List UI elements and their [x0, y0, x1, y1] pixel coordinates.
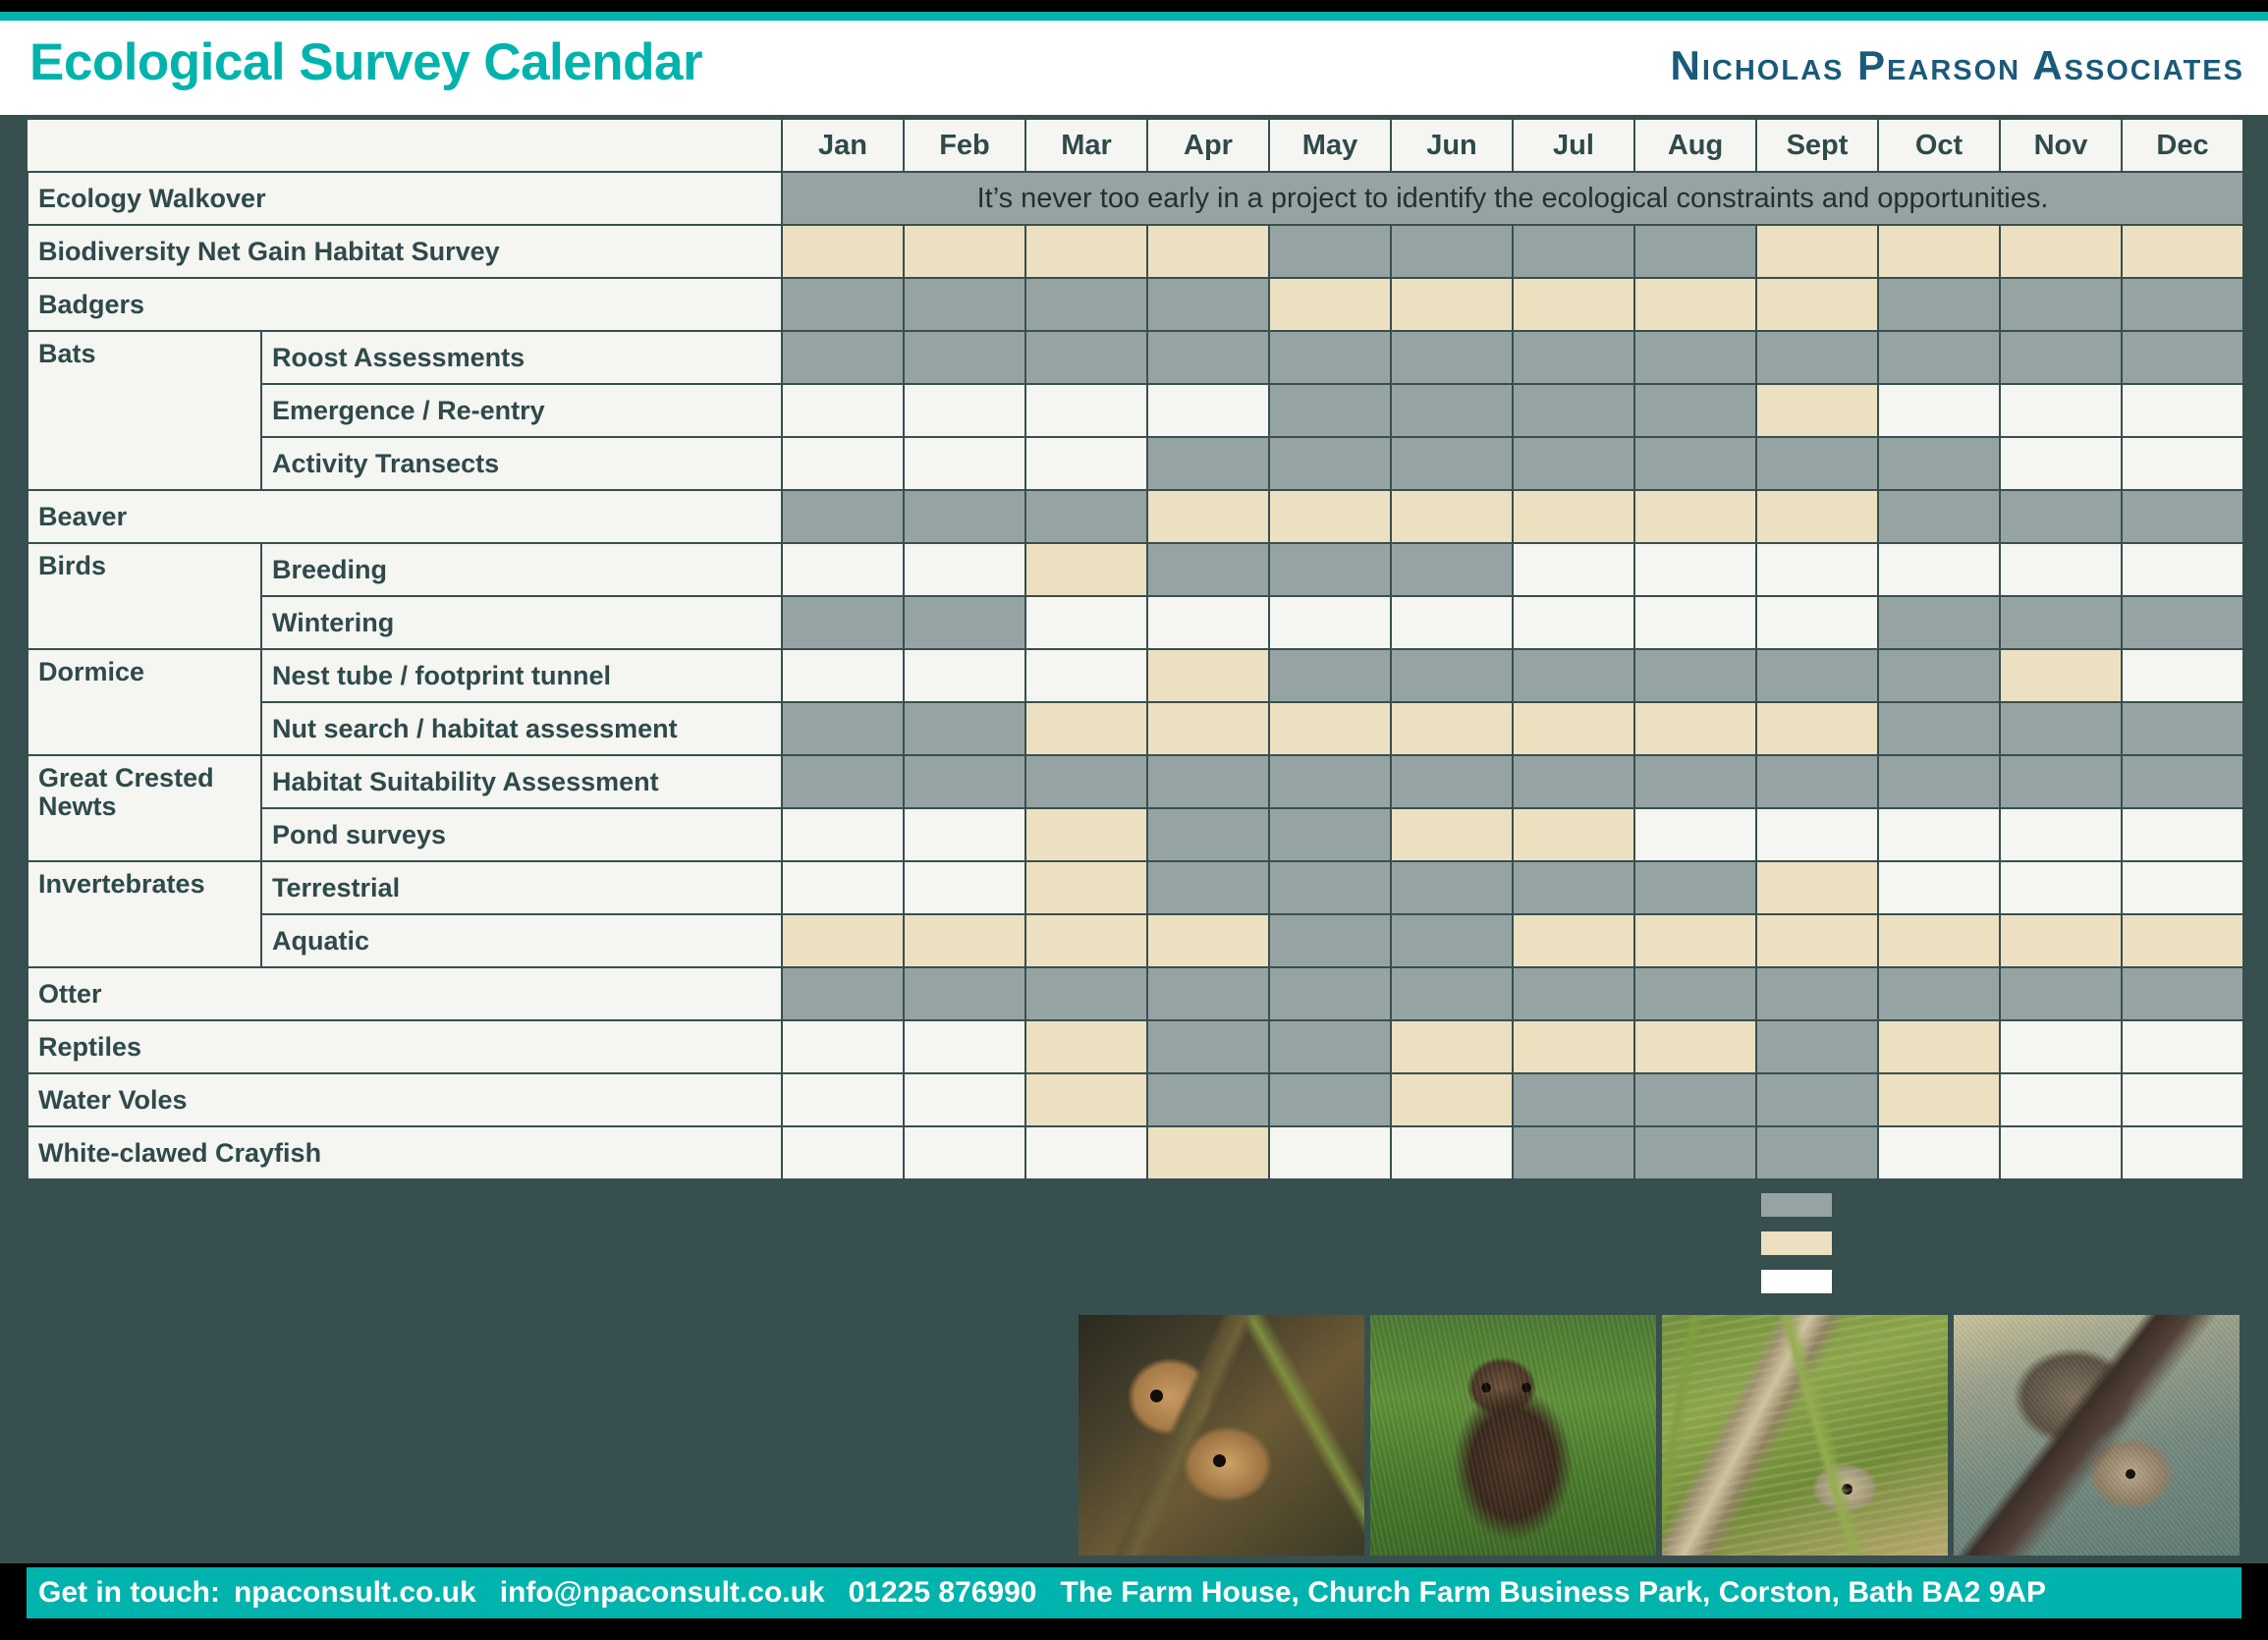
timeline-cell-may — [1269, 755, 1391, 808]
timeline-cell-oct — [1878, 278, 2000, 331]
timeline-cell-sept — [1756, 596, 1878, 649]
timeline-cell-dec — [2122, 543, 2243, 596]
timeline-cell-sept — [1756, 543, 1878, 596]
month-header-jun: Jun — [1391, 119, 1513, 172]
dormouse-eye-icon — [1150, 1390, 1163, 1402]
timeline-cell-aug — [1634, 702, 1756, 755]
timeline-cell-aug — [1634, 649, 1756, 702]
timeline-cell-nov — [2000, 967, 2122, 1020]
timeline-cell-aug — [1634, 596, 1756, 649]
otter-photo — [1370, 1315, 1656, 1556]
timeline-cell-aug — [1634, 543, 1756, 596]
timeline-cell-mar — [1025, 437, 1147, 490]
timeline-cell-jan — [782, 384, 904, 437]
table-row: Otter — [28, 967, 2243, 1020]
timeline-cell-nov — [2000, 596, 2122, 649]
row-sub-label: Emergence / Re-entry — [261, 384, 782, 437]
timeline-cell-dec — [2122, 755, 2243, 808]
timeline-cell-feb — [904, 1020, 1025, 1073]
timeline-cell-apr — [1147, 331, 1269, 384]
table-row: Emergence / Re-entry — [28, 384, 2243, 437]
timeline-cell-jul — [1513, 1073, 1634, 1126]
timeline-cell-dec — [2122, 1126, 2243, 1179]
timeline-cell-may — [1269, 1126, 1391, 1179]
row-group-label: Water Voles — [28, 1073, 782, 1126]
timeline-cell-may — [1269, 861, 1391, 914]
timeline-cell-jul — [1513, 278, 1634, 331]
timeline-cell-aug — [1634, 914, 1756, 967]
table-row: White-clawed Crayfish — [28, 1126, 2243, 1179]
timeline-cell-nov — [2000, 649, 2122, 702]
timeline-cell-oct — [1878, 331, 2000, 384]
timeline-cell-feb — [904, 437, 1025, 490]
timeline-cell-nov — [2000, 1126, 2122, 1179]
timeline-cell-aug — [1634, 861, 1756, 914]
timeline-cell-jul — [1513, 702, 1634, 755]
timeline-cell-dec — [2122, 225, 2243, 278]
timeline-cell-feb — [904, 596, 1025, 649]
timeline-cell-feb — [904, 755, 1025, 808]
table-row: BatsRoost Assessments — [28, 331, 2243, 384]
timeline-cell-oct — [1878, 384, 2000, 437]
timeline-cell-jul — [1513, 384, 1634, 437]
timeline-cell-nov — [2000, 1020, 2122, 1073]
timeline-cell-jan — [782, 1126, 904, 1179]
timeline-cell-jun — [1391, 1073, 1513, 1126]
table-row: Wintering — [28, 596, 2243, 649]
timeline-cell-nov — [2000, 543, 2122, 596]
timeline-cell-may — [1269, 1073, 1391, 1126]
timeline-cell-sept — [1756, 914, 1878, 967]
timeline-cell-aug — [1634, 225, 1756, 278]
timeline-cell-feb — [904, 1073, 1025, 1126]
page-title: Ecological Survey Calendar — [29, 32, 702, 92]
timeline-cell-mar — [1025, 914, 1147, 967]
timeline-cell-jun — [1391, 914, 1513, 967]
timeline-cell-jan — [782, 967, 904, 1020]
timeline-cell-jul — [1513, 1126, 1634, 1179]
timeline-cell-nov — [2000, 702, 2122, 755]
timeline-cell-oct — [1878, 967, 2000, 1020]
timeline-cell-apr — [1147, 225, 1269, 278]
timeline-cell-jul — [1513, 596, 1634, 649]
table-row: Beaver — [28, 490, 2243, 543]
timeline-cell-feb — [904, 278, 1025, 331]
timeline-cell-oct — [1878, 596, 2000, 649]
timeline-cell-apr — [1147, 649, 1269, 702]
month-header-dec: Dec — [2122, 119, 2243, 172]
row-sub-label: Wintering — [261, 596, 782, 649]
footer-email-link[interactable]: info@npaconsult.co.uk — [500, 1576, 825, 1610]
timeline-cell-dec — [2122, 649, 2243, 702]
photo-strip — [1079, 1315, 2240, 1556]
timeline-cell-apr — [1147, 914, 1269, 967]
footer-address: The Farm House, Church Farm Business Par… — [1061, 1576, 2047, 1610]
table-row: Aquatic — [28, 914, 2243, 967]
table-row: Badgers — [28, 278, 2243, 331]
timeline-cell-may — [1269, 596, 1391, 649]
timeline-cell-mar — [1025, 755, 1147, 808]
timeline-cell-mar — [1025, 278, 1147, 331]
legend — [1761, 1193, 1832, 1308]
row-sub-label: Terrestrial — [261, 861, 782, 914]
timeline-cell-jun — [1391, 861, 1513, 914]
row-group-label: Birds — [28, 543, 261, 649]
timeline-cell-nov — [2000, 278, 2122, 331]
row-group-label: Reptiles — [28, 1020, 782, 1073]
otter-eye-icon — [1521, 1383, 1531, 1393]
timeline-cell-jun — [1391, 1126, 1513, 1179]
timeline-cell-may — [1269, 437, 1391, 490]
timeline-cell-apr — [1147, 490, 1269, 543]
timeline-cell-nov — [2000, 384, 2122, 437]
timeline-cell-jun — [1391, 808, 1513, 861]
calendar-body: Ecology WalkoverIt’s never too early in … — [28, 172, 2243, 1179]
timeline-cell-aug — [1634, 1126, 1756, 1179]
timeline-cell-jan — [782, 1020, 904, 1073]
timeline-cell-nov — [2000, 437, 2122, 490]
row-sub-label: Roost Assessments — [261, 331, 782, 384]
timeline-cell-dec — [2122, 967, 2243, 1020]
timeline-cell-jan — [782, 808, 904, 861]
footer-contact-bar: Get in touch: npaconsult.co.uk info@npac… — [27, 1567, 2241, 1618]
timeline-cell-dec — [2122, 1073, 2243, 1126]
timeline-cell-nov — [2000, 808, 2122, 861]
timeline-cell-apr — [1147, 861, 1269, 914]
timeline-cell-sept — [1756, 808, 1878, 861]
timeline-cell-mar — [1025, 490, 1147, 543]
timeline-cell-dec — [2122, 384, 2243, 437]
bat-photo — [1954, 1315, 2240, 1556]
timeline-cell-apr — [1147, 384, 1269, 437]
timeline-cell-mar — [1025, 1020, 1147, 1073]
legend-swatch-optimal — [1761, 1193, 1832, 1217]
timeline-cell-oct — [1878, 437, 2000, 490]
table-row: Activity Transects — [28, 437, 2243, 490]
timeline-cell-may — [1269, 967, 1391, 1020]
timeline-cell-sept — [1756, 1073, 1878, 1126]
timeline-cell-aug — [1634, 808, 1756, 861]
timeline-cell-mar — [1025, 808, 1147, 861]
timeline-cell-may — [1269, 1020, 1391, 1073]
row-group-label: Badgers — [28, 278, 782, 331]
timeline-cell-aug — [1634, 755, 1756, 808]
timeline-cell-dec — [2122, 702, 2243, 755]
timeline-cell-sept — [1756, 331, 1878, 384]
timeline-cell-sept — [1756, 1020, 1878, 1073]
timeline-cell-sept — [1756, 861, 1878, 914]
timeline-cell-jul — [1513, 808, 1634, 861]
timeline-cell-feb — [904, 490, 1025, 543]
timeline-cell-oct — [1878, 490, 2000, 543]
timeline-cell-jan — [782, 755, 904, 808]
timeline-cell-jul — [1513, 331, 1634, 384]
month-header-oct: Oct — [1878, 119, 2000, 172]
timeline-cell-sept — [1756, 1126, 1878, 1179]
survey-calendar-table: JanFebMarAprMayJunJulAugSeptOctNovDec Ec… — [27, 118, 2244, 1180]
timeline-cell-aug — [1634, 490, 1756, 543]
timeline-cell-jul — [1513, 755, 1634, 808]
timeline-cell-jun — [1391, 649, 1513, 702]
timeline-cell-oct — [1878, 808, 2000, 861]
timeline-cell-jul — [1513, 543, 1634, 596]
timeline-cell-jun — [1391, 384, 1513, 437]
month-header-jan: Jan — [782, 119, 904, 172]
row-sub-label: Pond surveys — [261, 808, 782, 861]
timeline-cell-oct — [1878, 702, 2000, 755]
timeline-cell-apr — [1147, 1073, 1269, 1126]
timeline-cell-apr — [1147, 596, 1269, 649]
table-row: Nut search / habitat assessment — [28, 702, 2243, 755]
timeline-cell-dec — [2122, 861, 2243, 914]
timeline-cell-jan — [782, 596, 904, 649]
timeline-cell-dec — [2122, 808, 2243, 861]
timeline-cell-oct — [1878, 861, 2000, 914]
timeline-cell-jan — [782, 225, 904, 278]
timeline-cell-oct — [1878, 225, 2000, 278]
dormouse-eye-icon — [1213, 1454, 1226, 1467]
row-sub-label: Nut search / habitat assessment — [261, 702, 782, 755]
timeline-cell-sept — [1756, 967, 1878, 1020]
timeline-cell-dec — [2122, 596, 2243, 649]
timeline-cell-jan — [782, 702, 904, 755]
timeline-cell-jun — [1391, 490, 1513, 543]
table-row: BirdsBreeding — [28, 543, 2243, 596]
timeline-cell-jan — [782, 437, 904, 490]
month-header-sept: Sept — [1756, 119, 1878, 172]
timeline-cell-jul — [1513, 967, 1634, 1020]
legend-swatch-not-suitable — [1761, 1270, 1832, 1293]
timeline-cell-apr — [1147, 1020, 1269, 1073]
timeline-cell-jan — [782, 490, 904, 543]
footer-phone: 01225 876990 — [849, 1576, 1037, 1610]
top-accent-rule — [0, 12, 2268, 21]
row-sub-label: Habitat Suitability Assessment — [261, 755, 782, 808]
timeline-cell-feb — [904, 649, 1025, 702]
table-row: DormiceNest tube / footprint tunnel — [28, 649, 2243, 702]
timeline-cell-jan — [782, 861, 904, 914]
timeline-cell-oct — [1878, 649, 2000, 702]
timeline-cell-may — [1269, 543, 1391, 596]
timeline-cell-feb — [904, 331, 1025, 384]
month-header-aug: Aug — [1634, 119, 1756, 172]
timeline-cell-aug — [1634, 1073, 1756, 1126]
row-group-label: Biodiversity Net Gain Habitat Survey — [28, 225, 782, 278]
timeline-cell-apr — [1147, 967, 1269, 1020]
lizard-photo — [1662, 1315, 1948, 1556]
timeline-cell-jun — [1391, 225, 1513, 278]
timeline-cell-nov — [2000, 331, 2122, 384]
timeline-cell-sept — [1756, 384, 1878, 437]
timeline-cell-oct — [1878, 914, 2000, 967]
timeline-cell-feb — [904, 861, 1025, 914]
timeline-cell-apr — [1147, 543, 1269, 596]
bat-eye-icon — [2126, 1469, 2135, 1479]
timeline-cell-dec — [2122, 490, 2243, 543]
row-group-label: Invertebrates — [28, 861, 261, 967]
timeline-cell-sept — [1756, 490, 1878, 543]
table-row: InvertebratesTerrestrial — [28, 861, 2243, 914]
timeline-cell-oct — [1878, 543, 2000, 596]
row-sub-label: Aquatic — [261, 914, 782, 967]
table-row: Reptiles — [28, 1020, 2243, 1073]
timeline-cell-jul — [1513, 225, 1634, 278]
row-sub-label: Nest tube / footprint tunnel — [261, 649, 782, 702]
table-row: Pond surveys — [28, 808, 2243, 861]
timeline-cell-jun — [1391, 543, 1513, 596]
timeline-cell-may — [1269, 384, 1391, 437]
timeline-cell-aug — [1634, 437, 1756, 490]
timeline-cell-aug — [1634, 278, 1756, 331]
timeline-cell-mar — [1025, 384, 1147, 437]
row-group-label: Great Crested Newts — [28, 755, 261, 861]
table-row: Ecology WalkoverIt’s never too early in … — [28, 172, 2243, 225]
timeline-cell-aug — [1634, 384, 1756, 437]
timeline-cell-jun — [1391, 331, 1513, 384]
footer-lead-label: Get in touch: — [38, 1576, 220, 1610]
timeline-cell-sept — [1756, 755, 1878, 808]
timeline-cell-dec — [2122, 278, 2243, 331]
timeline-cell-may — [1269, 649, 1391, 702]
timeline-cell-jul — [1513, 490, 1634, 543]
timeline-cell-apr — [1147, 755, 1269, 808]
month-header-mar: Mar — [1025, 119, 1147, 172]
timeline-cell-jul — [1513, 437, 1634, 490]
timeline-cell-jan — [782, 1073, 904, 1126]
month-header-may: May — [1269, 119, 1391, 172]
timeline-cell-mar — [1025, 225, 1147, 278]
timeline-cell-jan — [782, 331, 904, 384]
row-group-label: Dormice — [28, 649, 261, 755]
timeline-cell-may — [1269, 331, 1391, 384]
timeline-cell-jan — [782, 649, 904, 702]
timeline-cell-sept — [1756, 278, 1878, 331]
timeline-cell-jun — [1391, 596, 1513, 649]
timeline-cell-jan — [782, 914, 904, 967]
timeline-cell-feb — [904, 702, 1025, 755]
timeline-cell-nov — [2000, 861, 2122, 914]
month-header-nov: Nov — [2000, 119, 2122, 172]
timeline-cell-feb — [904, 384, 1025, 437]
timeline-cell-jun — [1391, 967, 1513, 1020]
timeline-cell-mar — [1025, 649, 1147, 702]
timeline-cell-may — [1269, 490, 1391, 543]
month-header-apr: Apr — [1147, 119, 1269, 172]
timeline-cell-nov — [2000, 225, 2122, 278]
timeline-cell-mar — [1025, 543, 1147, 596]
timeline-cell-dec — [2122, 437, 2243, 490]
timeline-cell-mar — [1025, 1126, 1147, 1179]
otter-eye-icon — [1481, 1383, 1491, 1393]
calendar-header-row: JanFebMarAprMayJunJulAugSeptOctNovDec — [28, 119, 2243, 172]
timeline-cell-aug — [1634, 967, 1756, 1020]
timeline-cell-jun — [1391, 702, 1513, 755]
timeline-cell-sept — [1756, 649, 1878, 702]
month-header-feb: Feb — [904, 119, 1025, 172]
timeline-cell-nov — [2000, 490, 2122, 543]
timeline-cell-jul — [1513, 861, 1634, 914]
table-row: Great Crested NewtsHabitat Suitability A… — [28, 755, 2243, 808]
timeline-cell-mar — [1025, 702, 1147, 755]
timeline-cell-apr — [1147, 702, 1269, 755]
timeline-cell-feb — [904, 914, 1025, 967]
poster-page: Ecological Survey Calendar Nicholas Pear… — [0, 0, 2268, 1640]
table-row: Biodiversity Net Gain Habitat Survey — [28, 225, 2243, 278]
lizard-eye-icon — [1842, 1484, 1853, 1495]
timeline-cell-nov — [2000, 914, 2122, 967]
timeline-cell-jun — [1391, 1020, 1513, 1073]
timeline-cell-jul — [1513, 649, 1634, 702]
row-sub-label: Activity Transects — [261, 437, 782, 490]
timeline-cell-aug — [1634, 1020, 1756, 1073]
timeline-cell-apr — [1147, 808, 1269, 861]
month-header-jul: Jul — [1513, 119, 1634, 172]
table-row: Water Voles — [28, 1073, 2243, 1126]
timeline-cell-jan — [782, 278, 904, 331]
timeline-cell-nov — [2000, 755, 2122, 808]
timeline-cell-feb — [904, 808, 1025, 861]
timeline-cell-oct — [1878, 1020, 2000, 1073]
dormice-photo — [1079, 1315, 1364, 1556]
timeline-cell-apr — [1147, 437, 1269, 490]
timeline-cell-mar — [1025, 596, 1147, 649]
row-group-label: Beaver — [28, 490, 782, 543]
header-spacer-cell — [28, 119, 782, 172]
timeline-cell-feb — [904, 225, 1025, 278]
timeline-cell-oct — [1878, 1126, 2000, 1179]
timeline-cell-jun — [1391, 437, 1513, 490]
timeline-cell-jun — [1391, 278, 1513, 331]
timeline-cell-feb — [904, 967, 1025, 1020]
footer-website-link[interactable]: npaconsult.co.uk — [234, 1576, 476, 1610]
timeline-cell-jun — [1391, 755, 1513, 808]
timeline-cell-feb — [904, 543, 1025, 596]
timeline-cell-apr — [1147, 278, 1269, 331]
row-group-label: White-clawed Crayfish — [28, 1126, 782, 1179]
row-sub-label: Breeding — [261, 543, 782, 596]
timeline-cell-aug — [1634, 331, 1756, 384]
timeline-cell-oct — [1878, 1073, 2000, 1126]
timeline-cell-apr — [1147, 1126, 1269, 1179]
row-group-label: Bats — [28, 331, 261, 490]
row-group-label: Ecology Walkover — [28, 172, 782, 225]
legend-swatch-sub-optimal — [1761, 1231, 1832, 1255]
timeline-cell-oct — [1878, 755, 2000, 808]
company-logo-wordmark: Nicholas Pearson Associates — [1671, 42, 2244, 89]
timeline-cell-jan — [782, 543, 904, 596]
timeline-cell-mar — [1025, 331, 1147, 384]
timeline-cell-sept — [1756, 702, 1878, 755]
timeline-cell-dec — [2122, 1020, 2243, 1073]
timeline-cell-may — [1269, 225, 1391, 278]
timeline-cell-dec — [2122, 331, 2243, 384]
timeline-cell-may — [1269, 702, 1391, 755]
timeline-cell-dec — [2122, 914, 2243, 967]
walkover-note: It’s never too early in a project to ide… — [782, 172, 2243, 225]
header-band: Ecological Survey Calendar Nicholas Pear… — [0, 21, 2268, 115]
timeline-cell-may — [1269, 808, 1391, 861]
row-group-label: Otter — [28, 967, 782, 1020]
timeline-cell-sept — [1756, 225, 1878, 278]
timeline-cell-may — [1269, 278, 1391, 331]
timeline-cell-sept — [1756, 437, 1878, 490]
timeline-cell-jul — [1513, 914, 1634, 967]
timeline-cell-feb — [904, 1126, 1025, 1179]
timeline-cell-may — [1269, 914, 1391, 967]
timeline-cell-jul — [1513, 1020, 1634, 1073]
timeline-cell-mar — [1025, 967, 1147, 1020]
timeline-cell-nov — [2000, 1073, 2122, 1126]
